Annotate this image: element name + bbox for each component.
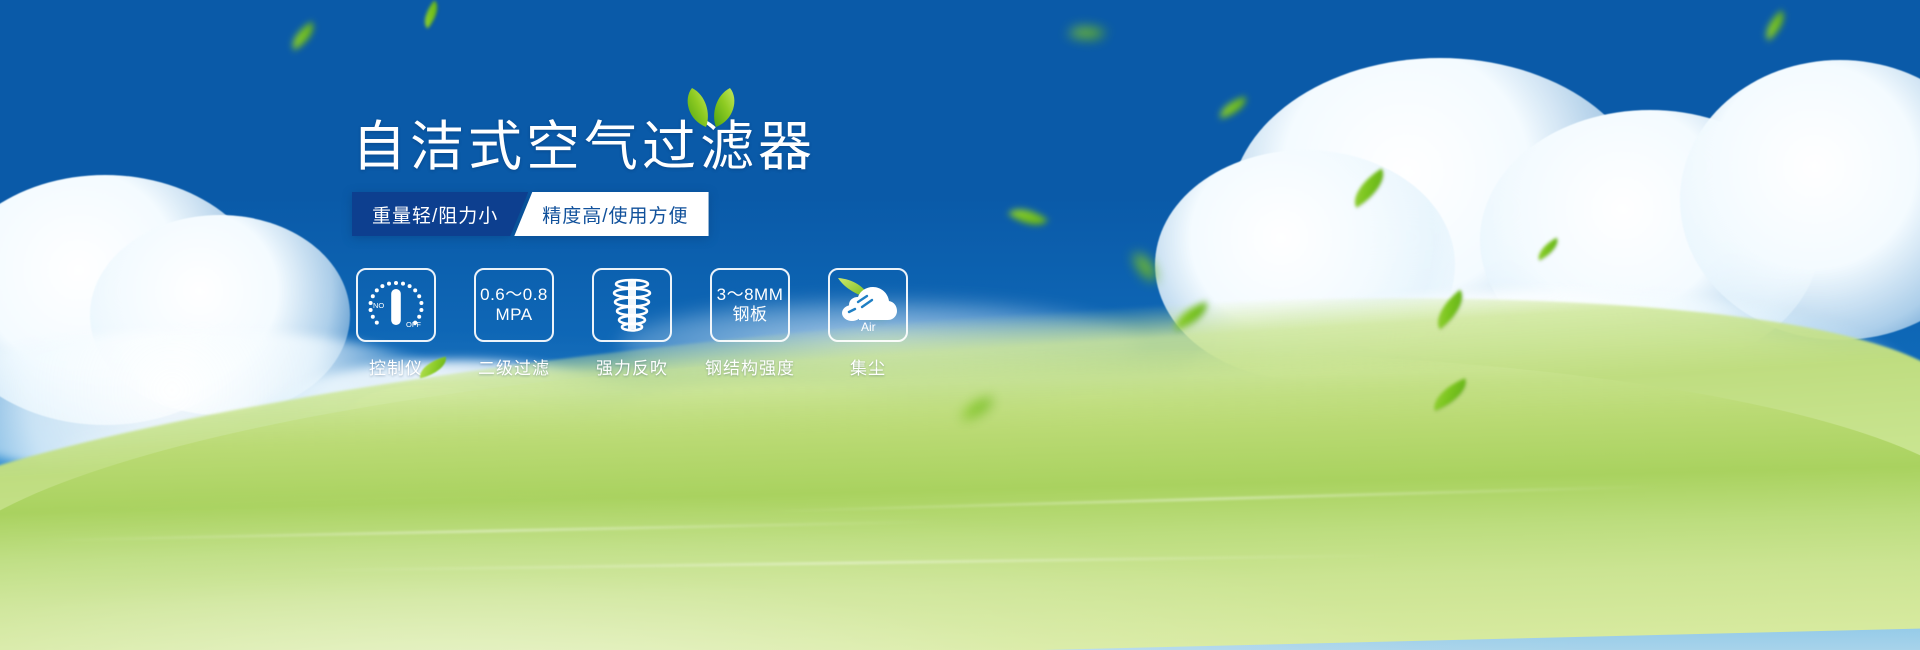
feature-item[interactable]: 强力反吹 bbox=[592, 268, 672, 379]
steel-thickness: 3～8MM bbox=[717, 285, 784, 305]
feature-icon-box: NO OFF bbox=[356, 268, 436, 342]
tagline-badges: 重量轻/阻力小 精度高/使用方便 bbox=[352, 192, 709, 236]
pressure-icon: 0.6～0.8 MPA bbox=[480, 285, 548, 325]
air-label: Air bbox=[861, 320, 876, 334]
feature-label: 强力反吹 bbox=[596, 354, 668, 379]
banner-content: 自洁式空气过滤器 重量轻/阻力小 精度高/使用方便 bbox=[0, 0, 1920, 650]
hero-banner: 自洁式空气过滤器 重量轻/阻力小 精度高/使用方便 bbox=[0, 0, 1920, 650]
steel-plate-icon: 3～8MM 钢板 bbox=[717, 285, 784, 325]
feature-list: NO OFF 控制仪 0.6～0.8 MPA 二级过滤 bbox=[356, 268, 908, 379]
badge-right: 精度高/使用方便 bbox=[514, 192, 708, 236]
blowback-icon bbox=[606, 277, 658, 333]
pressure-unit: MPA bbox=[480, 305, 548, 325]
feature-item[interactable]: Air 集尘 bbox=[828, 268, 908, 379]
title-sprout-icon bbox=[682, 86, 742, 126]
feature-label: 钢结构强度 bbox=[705, 354, 795, 379]
feature-item[interactable]: NO OFF 控制仪 bbox=[356, 268, 436, 379]
feature-icon-box: Air bbox=[828, 268, 908, 342]
feature-label: 控制仪 bbox=[369, 354, 423, 379]
feature-label: 集尘 bbox=[850, 354, 886, 379]
feature-icon-box: 0.6～0.8 MPA bbox=[474, 268, 554, 342]
air-cloud-icon: Air bbox=[835, 276, 901, 334]
steel-material: 钢板 bbox=[717, 305, 784, 325]
feature-icon-box: 3～8MM 钢板 bbox=[710, 268, 790, 342]
gauge-on-label: NO bbox=[373, 301, 384, 310]
feature-icon-box bbox=[592, 268, 672, 342]
feature-label: 二级过滤 bbox=[478, 354, 550, 379]
feature-item[interactable]: 0.6～0.8 MPA 二级过滤 bbox=[474, 268, 554, 379]
badge-left: 重量轻/阻力小 bbox=[352, 192, 528, 236]
gauge-icon: NO OFF bbox=[366, 277, 426, 333]
page-title: 自洁式空气过滤器 bbox=[352, 118, 816, 176]
gauge-off-label: OFF bbox=[406, 320, 421, 329]
pressure-value: 0.6～0.8 bbox=[480, 285, 548, 305]
feature-item[interactable]: 3～8MM 钢板 钢结构强度 bbox=[710, 268, 790, 379]
